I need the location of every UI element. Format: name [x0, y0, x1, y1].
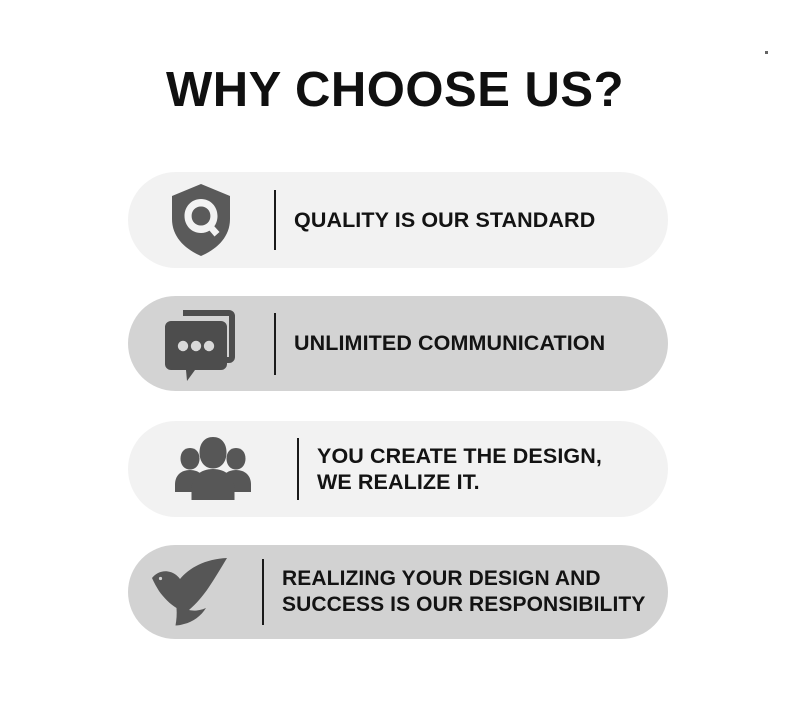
feature-row-design[interactable]: YOU CREATE THE DESIGN, WE REALIZE IT. [128, 421, 668, 517]
feature-label-line: YOU CREATE THE DESIGN, [317, 443, 668, 469]
feature-row-responsibility[interactable]: REALIZING YOUR DESIGN AND SUCCESS IS OUR… [128, 545, 668, 639]
shield-q-icon [128, 183, 274, 257]
feature-label-line: SUCCESS IS OUR RESPONSIBILITY [282, 592, 668, 618]
row-divider [274, 313, 276, 375]
feature-label-line: REALIZING YOUR DESIGN AND [282, 566, 668, 592]
feature-row-quality[interactable]: QUALITY IS OUR STANDARD [128, 172, 668, 268]
feature-label-responsibility: REALIZING YOUR DESIGN AND SUCCESS IS OUR… [282, 566, 668, 617]
feature-label-design: YOU CREATE THE DESIGN, WE REALIZE IT. [317, 443, 668, 495]
row-divider [297, 438, 299, 500]
chat-bubbles-icon [128, 307, 274, 381]
row-divider [274, 190, 276, 250]
dove-icon [128, 556, 262, 628]
feature-label-line: UNLIMITED COMMUNICATION [294, 330, 668, 356]
feature-label-communication: UNLIMITED COMMUNICATION [294, 330, 668, 356]
feature-label-line: WE REALIZE IT. [317, 469, 668, 495]
feature-label-quality: QUALITY IS OUR STANDARD [294, 207, 668, 233]
row-divider [262, 559, 264, 625]
stray-dot-artifact [765, 51, 768, 54]
feature-row-communication[interactable]: UNLIMITED COMMUNICATION [128, 296, 668, 391]
people-group-icon [128, 434, 297, 504]
page-title: WHY CHOOSE US? [0, 62, 790, 118]
slide-canvas: WHY CHOOSE US? QUALITY IS OUR STANDARD [0, 0, 790, 702]
feature-label-line: QUALITY IS OUR STANDARD [294, 207, 668, 233]
